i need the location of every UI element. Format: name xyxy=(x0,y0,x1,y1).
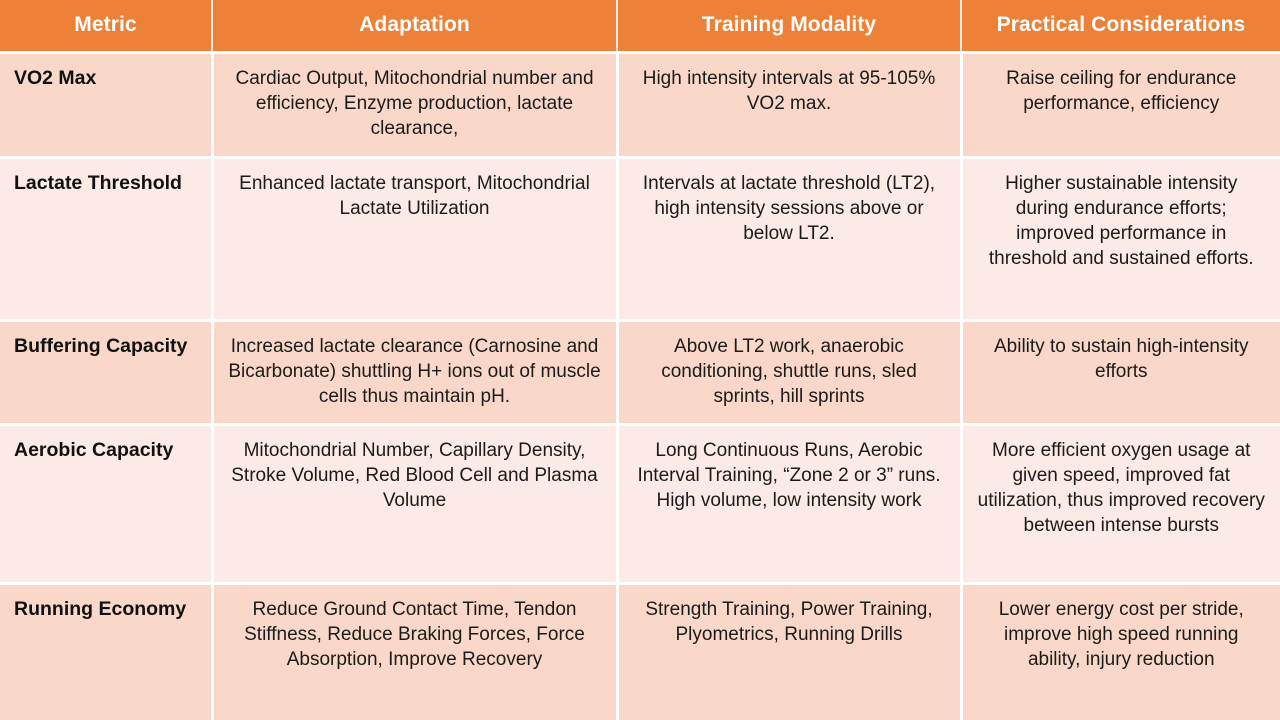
table-row: Running Economy Reduce Ground Contact Ti… xyxy=(0,583,1280,720)
cell-metric: Buffering Capacity xyxy=(0,320,212,424)
cell-practical-considerations: Raise ceiling for endurance performance,… xyxy=(961,52,1280,157)
cell-training-modality: Long Continuous Runs, Aerobic Interval T… xyxy=(617,424,961,583)
endurance-metrics-table: Metric Adaptation Training Modality Prac… xyxy=(0,0,1280,720)
cell-metric: VO2 Max xyxy=(0,52,212,157)
cell-adaptation: Increased lactate clearance (Carnosine a… xyxy=(212,320,617,424)
cell-practical-considerations: Lower energy cost per stride, improve hi… xyxy=(961,583,1280,720)
cell-practical-considerations: More efficient oxygen usage at given spe… xyxy=(961,424,1280,583)
table-row: VO2 Max Cardiac Output, Mitochondrial nu… xyxy=(0,52,1280,157)
cell-metric: Running Economy xyxy=(0,583,212,720)
table-row: Aerobic Capacity Mitochondrial Number, C… xyxy=(0,424,1280,583)
column-header-training-modality: Training Modality xyxy=(617,0,961,52)
cell-adaptation: Mitochondrial Number, Capillary Density,… xyxy=(212,424,617,583)
cell-training-modality: Above LT2 work, anaerobic conditioning, … xyxy=(617,320,961,424)
column-header-metric: Metric xyxy=(0,0,212,52)
cell-practical-considerations: Higher sustainable intensity during endu… xyxy=(961,157,1280,320)
cell-adaptation: Reduce Ground Contact Time, Tendon Stiff… xyxy=(212,583,617,720)
column-header-practical-considerations: Practical Considerations xyxy=(961,0,1280,52)
cell-metric: Lactate Threshold xyxy=(0,157,212,320)
cell-training-modality: High intensity intervals at 95-105% VO2 … xyxy=(617,52,961,157)
cell-training-modality: Strength Training, Power Training, Plyom… xyxy=(617,583,961,720)
column-header-adaptation: Adaptation xyxy=(212,0,617,52)
table-row: Buffering Capacity Increased lactate cle… xyxy=(0,320,1280,424)
cell-practical-considerations: Ability to sustain high-intensity effort… xyxy=(961,320,1280,424)
cell-metric: Aerobic Capacity xyxy=(0,424,212,583)
cell-adaptation: Enhanced lactate transport, Mitochondria… xyxy=(212,157,617,320)
header-row: Metric Adaptation Training Modality Prac… xyxy=(0,0,1280,52)
cell-adaptation: Cardiac Output, Mitochondrial number and… xyxy=(212,52,617,157)
table-header: Metric Adaptation Training Modality Prac… xyxy=(0,0,1280,52)
cell-training-modality: Intervals at lactate threshold (LT2), hi… xyxy=(617,157,961,320)
table-row: Lactate Threshold Enhanced lactate trans… xyxy=(0,157,1280,320)
table-body: VO2 Max Cardiac Output, Mitochondrial nu… xyxy=(0,52,1280,720)
